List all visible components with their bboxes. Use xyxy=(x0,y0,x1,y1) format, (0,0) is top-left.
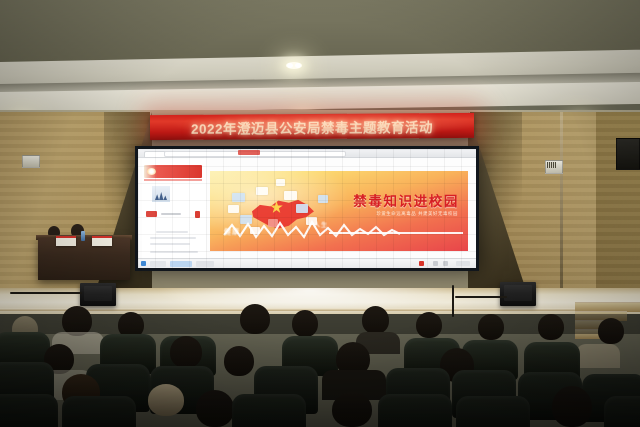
event-banner-text: 2022年澄迈县公安局禁毒主题教育活动 xyxy=(150,113,474,140)
audience-head xyxy=(552,386,592,427)
audience-head xyxy=(224,346,254,376)
audience-head xyxy=(240,304,270,334)
audience-seat[interactable] xyxy=(378,394,452,427)
taskbar-item[interactable] xyxy=(150,261,166,267)
led-screen-frame: 健康 人生 禁毒知识进校园 珍爱生命远离毒品 共建美好无毒校园 xyxy=(135,146,479,271)
photo-chip xyxy=(318,195,328,203)
audience-seat[interactable] xyxy=(0,394,58,427)
browser-highlight-chip xyxy=(238,150,260,155)
audience-seat[interactable] xyxy=(232,394,306,427)
audience-seat[interactable] xyxy=(62,396,136,427)
water-bottle-icon xyxy=(81,231,85,241)
auditorium-scene: 2022年澄迈县公安局禁毒主题教育活动 xyxy=(0,0,640,427)
audience-head xyxy=(598,318,624,344)
campaign-subtitle: 珍爱生命远离毒品 共建美好无毒校园 xyxy=(376,211,458,217)
sidebar-badge-secondary[interactable] xyxy=(195,211,200,218)
photo-chip xyxy=(276,179,285,186)
ceiling-downlight-icon xyxy=(286,62,302,69)
sidebar-badge[interactable] xyxy=(146,211,157,217)
floor-cable xyxy=(10,292,82,294)
campaign-title: 禁毒知识进校园 xyxy=(353,190,459,210)
taskbar-item[interactable] xyxy=(170,261,192,267)
tray-clock-icon[interactable] xyxy=(456,261,470,266)
sidebar-header-rule xyxy=(144,179,202,181)
wall-speaker-icon xyxy=(545,160,563,174)
sidebar-text-line xyxy=(161,213,181,215)
webpage-sidebar[interactable] xyxy=(142,159,206,258)
audience-head xyxy=(416,312,442,338)
led-screen[interactable]: 健康 人生 禁毒知识进校园 珍爱生命远离毒品 共建美好无毒校园 xyxy=(138,149,476,268)
taskbar-item[interactable] xyxy=(196,261,214,267)
sidebar-text-line xyxy=(156,231,188,233)
tray-icon[interactable] xyxy=(443,261,448,266)
audience-head xyxy=(292,310,318,337)
audience-seat[interactable] xyxy=(456,396,530,427)
name-placard xyxy=(92,236,112,246)
anti-drug-campaign-banner: 健康 人生 禁毒知识进校园 珍爱生命远离毒品 共建美好无毒校园 xyxy=(210,171,468,251)
audience-seat[interactable] xyxy=(604,396,640,427)
audience-head xyxy=(478,314,504,340)
photo-chip xyxy=(284,191,297,200)
wall-vent-icon xyxy=(22,155,40,168)
photo-chip xyxy=(232,193,245,202)
stage-table xyxy=(38,238,130,280)
os-taskbar[interactable] xyxy=(138,258,476,268)
audience-head-light xyxy=(148,384,184,416)
wave-baseline xyxy=(329,232,463,234)
sidebar-text-line xyxy=(150,251,198,253)
browser-toolbar[interactable] xyxy=(138,149,476,158)
audience-head xyxy=(170,336,202,368)
audience-area xyxy=(0,300,640,427)
photo-chip xyxy=(228,205,239,213)
audience-head xyxy=(332,392,372,427)
floor-cable xyxy=(455,296,507,298)
corner-monitor xyxy=(616,138,640,170)
audience-head xyxy=(538,314,564,340)
audience-shoulders xyxy=(576,344,620,368)
tray-icon[interactable] xyxy=(433,261,438,266)
name-placard xyxy=(56,236,76,246)
event-banner: 2022年澄迈县公安局禁毒主题教育活动 xyxy=(150,113,474,140)
sidebar-text-line xyxy=(150,237,196,239)
chart-icon xyxy=(152,186,170,202)
tray-icon[interactable] xyxy=(419,261,424,266)
wave-graphic xyxy=(210,219,468,239)
start-button-icon[interactable] xyxy=(141,261,146,266)
photo-chip xyxy=(296,204,308,213)
photo-chip xyxy=(256,187,268,195)
sidebar-header-banner xyxy=(144,165,202,178)
audience-head xyxy=(196,390,234,427)
audience-head xyxy=(362,306,389,334)
sidebar-text-line xyxy=(150,243,190,245)
wall-seam xyxy=(560,112,563,290)
